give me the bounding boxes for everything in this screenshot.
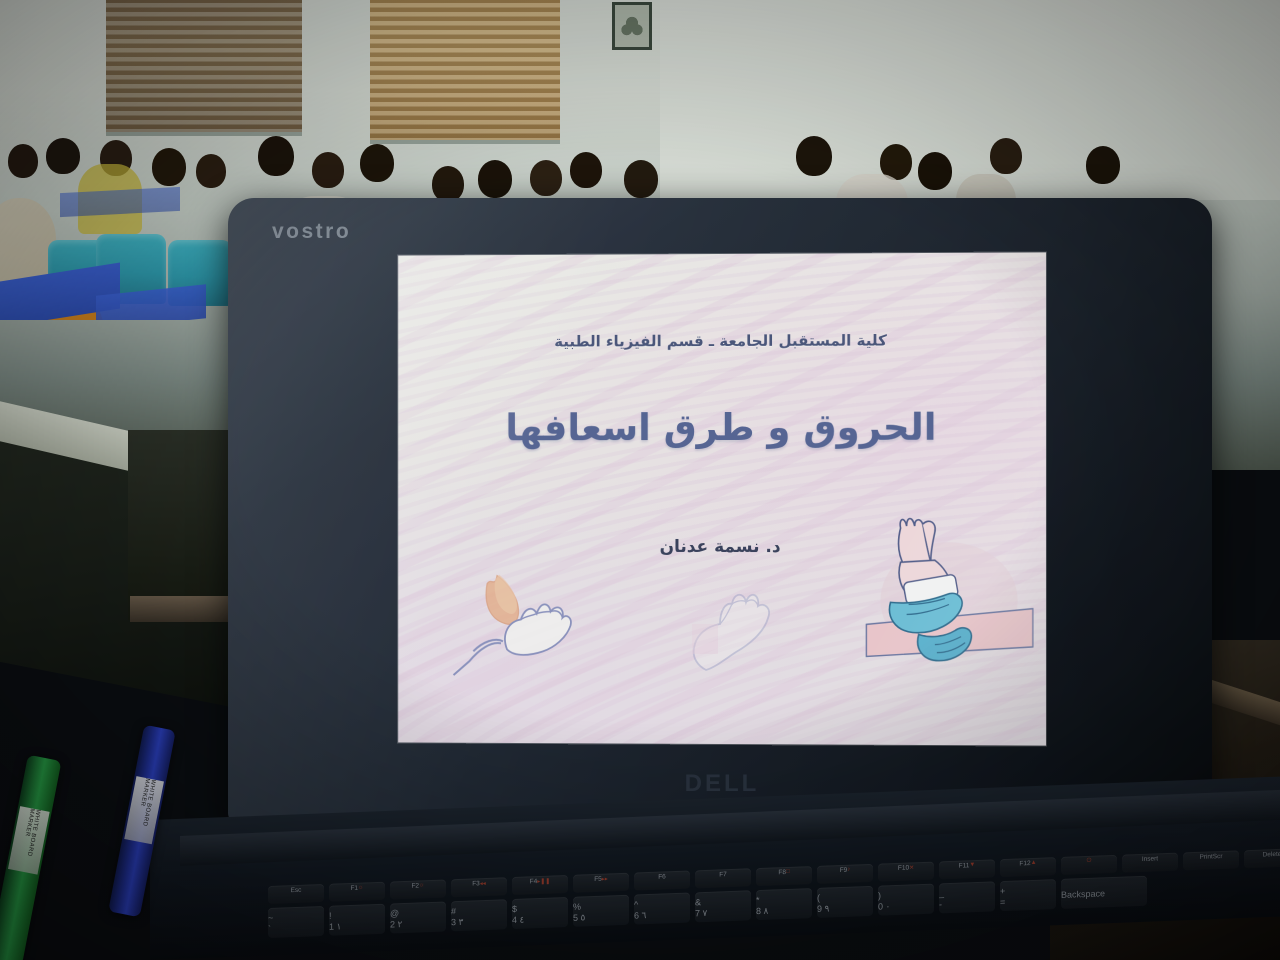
key-f8[interactable]: F8 □ xyxy=(756,866,812,886)
presentation-slide[interactable]: كلية المستقبل الجامعة ـ قسم الفيزياء الط… xyxy=(398,252,1046,745)
laptop: vostro DELL كلية المستقبل الجامعة ـ قسم … xyxy=(228,198,1212,838)
audience-person xyxy=(570,152,602,188)
audience-person xyxy=(918,152,952,190)
green-whiteboard-marker[interactable]: WHITE BOARD MARKER xyxy=(0,755,62,960)
key-power[interactable]: ⏻ xyxy=(1061,855,1117,875)
key-backspace[interactable]: Backspace xyxy=(1061,876,1147,909)
marker-label: WHITE BOARD MARKER xyxy=(8,806,50,875)
key-5[interactable]: %5 ٥ xyxy=(573,895,629,927)
key-0[interactable]: )0 ٠ xyxy=(878,884,934,916)
hands-flame-icon xyxy=(448,572,666,692)
key-4[interactable]: $4 ٤ xyxy=(512,897,568,929)
window-blind-left xyxy=(106,0,302,136)
slide-title: الحروق و طرق اسعافها xyxy=(398,405,1046,449)
audience-person xyxy=(152,148,186,186)
key-`[interactable]: ~` xyxy=(268,906,324,938)
emblem-icon xyxy=(620,10,644,42)
audience-person xyxy=(796,136,832,176)
key-f12[interactable]: F12 ▲ xyxy=(1000,857,1056,877)
key-6[interactable]: ^6 ٦ xyxy=(634,893,690,925)
student-desk xyxy=(60,187,180,217)
audience-person xyxy=(478,160,512,198)
blind-slats xyxy=(106,0,302,132)
key-f4[interactable]: F4 ▸❚❚ xyxy=(512,875,568,895)
key-f10[interactable]: F10 ✕ xyxy=(878,862,934,882)
key-insert[interactable]: Insert xyxy=(1122,853,1178,873)
key-f6[interactable]: F6 xyxy=(634,871,690,891)
key-delete[interactable]: Delete xyxy=(1244,848,1280,868)
window-blind-right xyxy=(370,0,560,144)
key-printscr[interactable]: PrintScr xyxy=(1183,850,1239,870)
audience-person xyxy=(360,144,394,182)
key-f3[interactable]: F3 ◂◂ xyxy=(451,877,507,897)
faded-hand-icon xyxy=(686,574,816,684)
key-f11[interactable]: F11 ▼ xyxy=(939,859,995,879)
key-=[interactable]: += xyxy=(1000,879,1056,911)
key-1[interactable]: !1 ١ xyxy=(329,904,385,936)
gloved-hands-treating-arm-illustration xyxy=(856,504,1043,690)
audience-person xyxy=(258,136,294,176)
audience-person xyxy=(196,154,226,188)
key-7[interactable]: &7 ٧ xyxy=(695,890,751,922)
key-f7[interactable]: F7 xyxy=(695,868,751,888)
key-3[interactable]: #3 ٣ xyxy=(451,899,507,931)
key-f5[interactable]: F5 ▸▸ xyxy=(573,873,629,893)
wall-emblem-frame xyxy=(612,2,652,50)
key-esc[interactable]: Esc xyxy=(268,884,324,904)
key-8[interactable]: *8 ٨ xyxy=(756,888,812,920)
medical-first-aid-icon xyxy=(856,504,1043,690)
key-9[interactable]: (9 ٩ xyxy=(817,886,873,918)
audience-person xyxy=(432,166,464,202)
key-2[interactable]: @2 ٢ xyxy=(390,901,446,933)
audience-person xyxy=(990,138,1022,174)
audience-person xyxy=(1086,146,1120,184)
laptop-screen[interactable]: كلية المستقبل الجامعة ـ قسم الفيزياء الط… xyxy=(398,252,1046,745)
vostro-brand-logo: vostro xyxy=(272,220,351,244)
hands-with-flame-illustration xyxy=(448,572,666,692)
key-f1[interactable]: F1 ☼ xyxy=(329,882,385,902)
key-f2[interactable]: F2 ☼ xyxy=(390,879,446,899)
audience-person xyxy=(312,152,344,188)
audience-person xyxy=(530,160,562,196)
slide-subtitle: كلية المستقبل الجامعة ـ قسم الفيزياء الط… xyxy=(398,331,1046,351)
dell-brand-logo: DELL xyxy=(672,770,772,798)
audience-person xyxy=(46,138,80,174)
key-f9[interactable]: F9 ♪ xyxy=(817,864,873,884)
audience-person xyxy=(624,160,658,198)
blind-slats xyxy=(370,0,560,140)
audience-person xyxy=(8,144,38,178)
hand-outline-faded-illustration xyxy=(686,574,816,684)
key--[interactable]: _- xyxy=(939,881,995,913)
photo-scene: vostro DELL كلية المستقبل الجامعة ـ قسم … xyxy=(0,0,1280,960)
